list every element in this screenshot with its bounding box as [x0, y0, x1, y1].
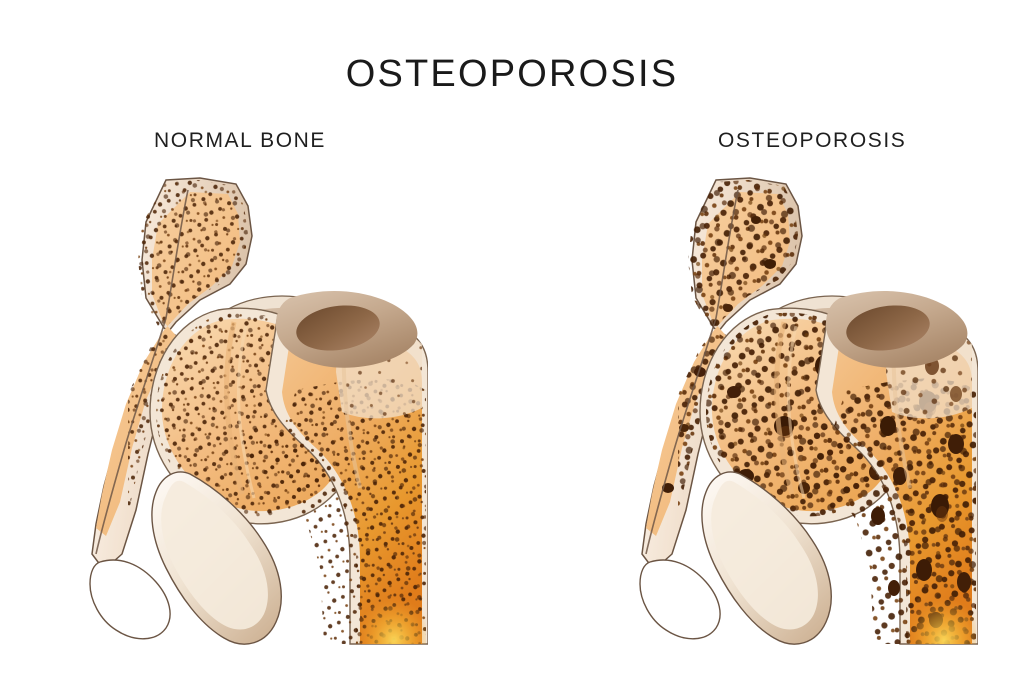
trochanteric-fossa-normal — [276, 291, 418, 368]
poster-canvas: OSTEOPOROSIS NORMAL BONE OSTEOPOROSIS — [0, 0, 1024, 682]
panel-label-osteoporosis: OSTEOPOROSIS — [718, 130, 906, 151]
obturator-foramen-osteoporotic — [640, 560, 720, 639]
trochanter-cavity-2 — [950, 386, 962, 402]
obturator-foramen-normal — [90, 560, 170, 639]
obturator-foramen-opening — [640, 560, 720, 639]
illustration-normal-bone — [38, 176, 428, 646]
page-title: OSTEOPOROSIS — [0, 55, 1024, 93]
panel-label-normal-bone: NORMAL BONE — [154, 130, 326, 151]
obturator-foramen-opening — [90, 560, 170, 639]
trochanteric-fossa-osteoporotic — [826, 291, 968, 368]
illustration-osteoporosis — [588, 176, 978, 646]
